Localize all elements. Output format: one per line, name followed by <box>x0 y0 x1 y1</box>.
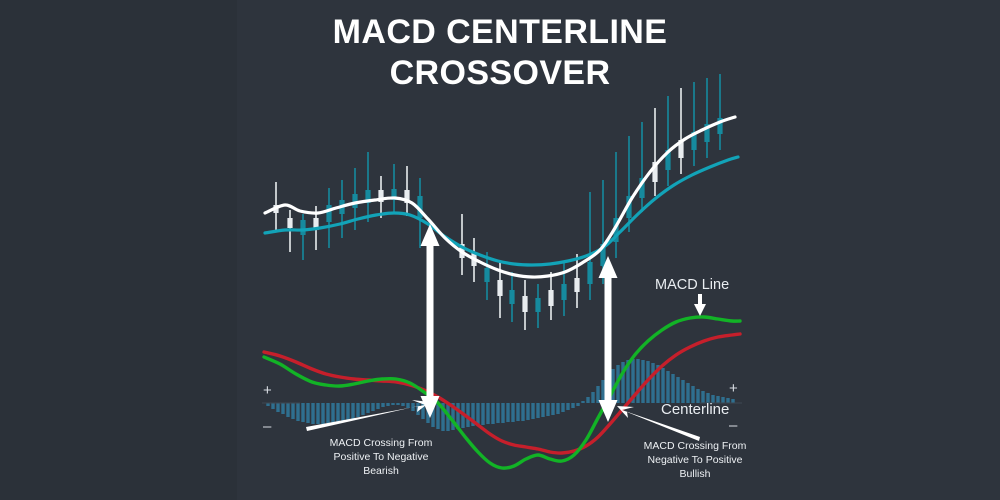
histogram-bar <box>281 403 284 414</box>
plus-sign-right: + <box>729 381 738 396</box>
candle-body <box>497 280 502 296</box>
histogram-bar <box>586 397 589 403</box>
histogram-bar <box>316 403 319 424</box>
histogram-bar <box>601 380 604 403</box>
candle-body <box>522 296 527 312</box>
histogram-bar <box>321 403 324 424</box>
minus-sign-right: – <box>729 418 737 433</box>
histogram-bar <box>581 401 584 403</box>
page-title: MACD CENTERLINE CROSSOVER <box>260 12 740 95</box>
candle-body <box>548 290 553 306</box>
candle-body <box>300 220 305 235</box>
histogram-bar <box>326 403 329 423</box>
bullish-annotation: MACD Crossing From Negative To Positive … <box>620 440 770 482</box>
centerline-label: Centerline <box>661 401 729 418</box>
histogram-bar <box>276 403 279 412</box>
histogram-bar <box>361 403 364 415</box>
histogram-bar <box>376 403 379 409</box>
slow-moving-average-line <box>265 157 738 265</box>
histogram-bar <box>531 403 534 419</box>
histogram-bar <box>271 403 274 409</box>
histogram-bar <box>351 403 354 419</box>
macd-line-callout-arrow <box>694 294 706 316</box>
candle-body <box>509 290 514 304</box>
histogram-bar <box>311 403 314 424</box>
histogram-bar <box>386 403 389 406</box>
candle-body <box>535 298 540 312</box>
histogram-bar <box>496 403 499 423</box>
chart-image: MACD CENTERLINE CROSSOVER MACD Line Cent… <box>0 0 1000 500</box>
histogram-bar <box>491 403 494 424</box>
histogram-bar <box>506 403 509 422</box>
histogram-bar <box>676 377 679 403</box>
fast-moving-average-line <box>265 117 735 277</box>
histogram-bar <box>346 403 349 420</box>
histogram-bar <box>396 403 399 405</box>
histogram-bar <box>301 403 304 422</box>
candle-body <box>561 284 566 300</box>
histogram-bar <box>341 403 344 421</box>
page-title-line-1: MACD CENTERLINE <box>260 12 740 53</box>
macd-histogram <box>266 359 734 431</box>
bearish-annotation: MACD Crossing From Positive To Negative … <box>303 437 459 479</box>
histogram-bar <box>411 403 414 411</box>
histogram-bar <box>481 403 484 425</box>
histogram-bar <box>731 399 734 403</box>
histogram-bar <box>661 368 664 403</box>
histogram-bar <box>651 363 654 403</box>
histogram-bar <box>286 403 289 417</box>
histogram-bar <box>401 403 404 406</box>
histogram-bar <box>366 403 369 413</box>
candle-body <box>574 278 579 292</box>
histogram-bar <box>336 403 339 422</box>
histogram-bar <box>371 403 374 411</box>
histogram-bar <box>331 403 334 423</box>
histogram-bar <box>511 403 514 422</box>
minus-sign-left: – <box>263 419 271 434</box>
histogram-bar <box>436 403 439 429</box>
histogram-bar <box>571 403 574 408</box>
candle-body <box>326 205 331 222</box>
histogram-bar <box>356 403 359 417</box>
histogram-bar <box>486 403 489 424</box>
histogram-bar <box>591 392 594 403</box>
candle-body <box>484 268 489 282</box>
histogram-bar <box>291 403 294 419</box>
histogram-bar <box>501 403 504 423</box>
histogram-bar <box>636 359 639 403</box>
histogram-bar <box>556 403 559 414</box>
histogram-bar <box>681 380 684 403</box>
histogram-bar <box>526 403 529 420</box>
histogram-bar <box>566 403 569 410</box>
histogram-bar <box>551 403 554 415</box>
histogram-bar <box>521 403 524 421</box>
histogram-bar <box>476 403 479 425</box>
histogram-bar <box>576 403 579 406</box>
histogram-bar <box>666 371 669 403</box>
histogram-bar <box>541 403 544 417</box>
candle-body <box>352 194 357 208</box>
candle-body <box>587 262 592 284</box>
histogram-bar <box>406 403 409 408</box>
plus-sign-left: + <box>263 383 272 398</box>
histogram-bar <box>536 403 539 418</box>
histogram-bar <box>686 383 689 403</box>
histogram-bar <box>391 403 394 405</box>
histogram-bar <box>516 403 519 421</box>
histogram-bar <box>306 403 309 423</box>
histogram-bar <box>561 403 564 412</box>
histogram-bar <box>641 360 644 403</box>
histogram-bar <box>546 403 549 416</box>
histogram-bar <box>381 403 384 407</box>
histogram-bar <box>296 403 299 421</box>
macd-line-label: MACD Line <box>655 277 729 293</box>
page-title-line-2: CROSSOVER <box>260 53 740 94</box>
histogram-bar <box>671 374 674 403</box>
candle-body <box>287 218 292 228</box>
